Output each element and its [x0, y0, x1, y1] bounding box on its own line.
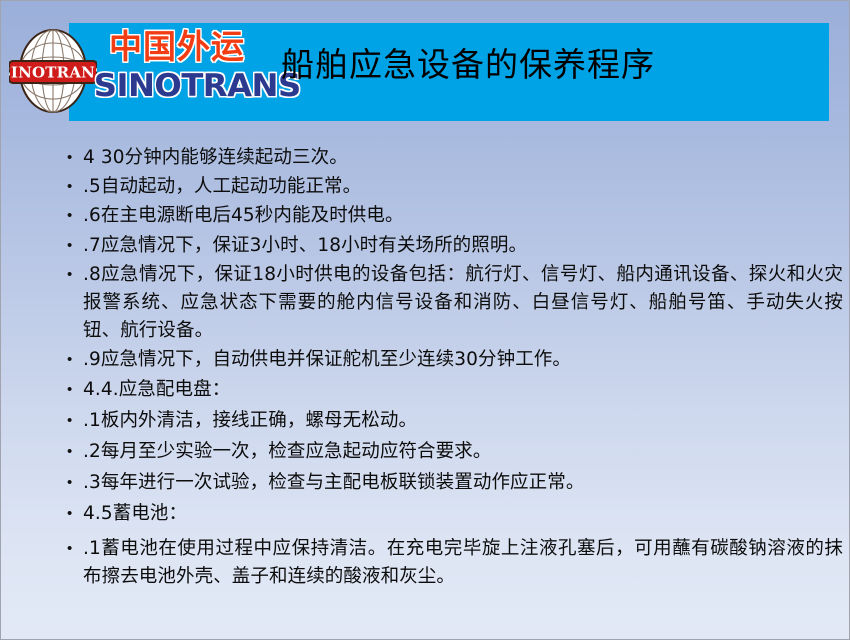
list-item-text: .6在主电源断电后45秒内能及时供电。 — [83, 202, 843, 230]
list-item: • .6在主电源断电后45秒内能及时供电。 — [61, 202, 843, 230]
list-item-text: .8应急情况下，保证18小时供电的设备包括：航行灯、信号灯、船内通讯设备、探火和… — [83, 261, 843, 346]
page-title: 船舶应急设备的保养程序 — [281, 43, 811, 87]
list-item: • 4.5蓄电池： — [61, 500, 843, 528]
logo-english-name: SINOTRANS — [94, 67, 260, 105]
list-item-text: 4.4.应急配电盘： — [83, 376, 843, 404]
bullet-marker-icon: • — [61, 173, 83, 201]
list-item: • .1板内外清洁，接线正确，螺母无松动。 — [61, 407, 843, 435]
list-item-text: .1板内外清洁，接线正确，螺母无松动。 — [83, 407, 843, 435]
list-item-text: .1蓄电池在使用过程中应保持清洁。在充电完毕旋上注液孔塞后，可用蘸有碳酸钠溶液的… — [83, 535, 843, 591]
bullet-marker-icon: • — [61, 535, 83, 563]
list-item-text: .7应急情况下，保证3小时、18小时有关场所的照明。 — [83, 232, 843, 260]
bullet-marker-icon: • — [61, 261, 83, 289]
list-item: • .9应急情况下，自动供电并保证舵机至少连续30分钟工作。 — [61, 346, 843, 374]
list-item-text: .3每年进行一次试验，检查与主配电板联锁装置动作应正常。 — [83, 469, 843, 497]
bullet-marker-icon: • — [61, 202, 83, 230]
svg-text:SINOTRANS: SINOTRANS — [9, 64, 97, 82]
globe-logo-icon: SINOTRANS — [9, 28, 97, 114]
bullet-list: • 4 30分钟内能够连续起动三次。 • .5自动起动，人工起动功能正常。 • … — [61, 144, 843, 591]
list-item: • .8应急情况下，保证18小时供电的设备包括：航行灯、信号灯、船内通讯设备、探… — [61, 261, 843, 346]
list-item: • 4.4.应急配电盘： — [61, 376, 843, 404]
list-item-text: 4 30分钟内能够连续起动三次。 — [83, 144, 843, 172]
sinotrans-logo: SINOTRANS 中国外运 SINOTRANS — [5, 25, 255, 119]
list-item: • .1蓄电池在使用过程中应保持清洁。在充电完毕旋上注液孔塞后，可用蘸有碳酸钠溶… — [61, 535, 843, 591]
list-item: • .2每月至少实验一次，检查应急起动应符合要求。 — [61, 438, 843, 466]
bullet-marker-icon: • — [61, 232, 83, 260]
list-item-text: .9应急情况下，自动供电并保证舵机至少连续30分钟工作。 — [83, 346, 843, 374]
bullet-marker-icon: • — [61, 438, 83, 466]
bullet-marker-icon: • — [61, 376, 83, 404]
list-item: • .3每年进行一次试验，检查与主配电板联锁装置动作应正常。 — [61, 469, 843, 497]
bullet-marker-icon: • — [61, 407, 83, 435]
presentation-slide: SINOTRANS 中国外运 SINOTRANS 船舶应急设备的保养程序 • 4… — [0, 0, 850, 640]
bullet-marker-icon: • — [61, 144, 83, 172]
list-item: • 4 30分钟内能够连续起动三次。 — [61, 144, 843, 172]
bullet-marker-icon: • — [61, 469, 83, 497]
logo-chinese-name: 中国外运 — [97, 27, 257, 67]
list-item-text: .5自动起动，人工起动功能正常。 — [83, 173, 843, 201]
list-item: • .5自动起动，人工起动功能正常。 — [61, 173, 843, 201]
logo-wordmark: 中国外运 SINOTRANS — [97, 27, 257, 119]
bullet-marker-icon: • — [61, 346, 83, 374]
list-item-text: 4.5蓄电池： — [83, 500, 843, 528]
list-item: • .7应急情况下，保证3小时、18小时有关场所的照明。 — [61, 232, 843, 260]
list-item-text: .2每月至少实验一次，检查应急起动应符合要求。 — [83, 438, 843, 466]
bullet-marker-icon: • — [61, 500, 83, 528]
